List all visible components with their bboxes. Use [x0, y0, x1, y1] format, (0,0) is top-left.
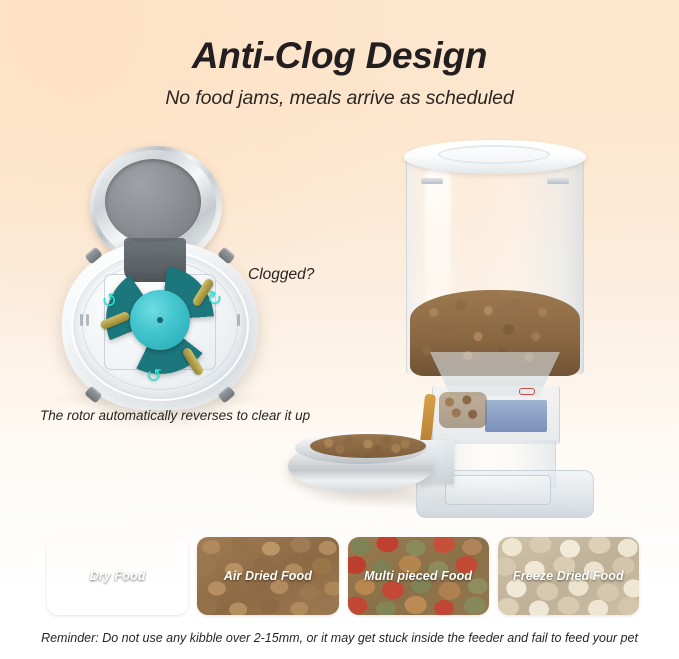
food-swatch-label: Multi pieced Food — [348, 569, 489, 583]
vent-slot — [86, 314, 89, 326]
food-swatch-label: Dry Food — [47, 569, 188, 583]
hopper-clip — [547, 178, 569, 184]
food-swatch-label: Air Dried Food — [197, 569, 338, 583]
food-swatch-freeze-dried: Freeze Dried Food — [498, 537, 639, 615]
food-swatch-dry: Dry Food — [47, 537, 188, 615]
rotor-chamber-blue-part — [485, 400, 547, 432]
clogged-label: Clogged? — [248, 266, 314, 284]
feeder-lid-ring — [438, 145, 550, 164]
infographic-page: Anti-Clog Design No food jams, meals arr… — [0, 0, 679, 659]
rotor-caption: The rotor automatically reverses to clea… — [40, 408, 310, 423]
rotor-center-pin — [157, 317, 163, 323]
base-inner-frame — [445, 475, 551, 505]
food-swatch-air-dried: Air Dried Food — [197, 537, 338, 615]
food-type-swatch-row: Dry Food Air Dried Food Multi pieced Foo… — [47, 537, 639, 615]
bowl-rim — [295, 432, 427, 464]
reverse-rotation-arrow-icon: ↺ — [146, 367, 163, 387]
chamber-kibble — [439, 392, 487, 428]
rotor-hub — [130, 290, 190, 350]
hopper-clip — [421, 178, 443, 184]
lid-inner-face — [105, 159, 201, 244]
feeding-bowl — [288, 432, 434, 494]
feeder-body-top-view: ↺ ↺ ↺ — [62, 242, 258, 410]
rotor-chamber — [432, 386, 560, 444]
page-title: Anti-Clog Design — [0, 36, 679, 77]
food-swatch-multi-pieced: Multi pieced Food — [348, 537, 489, 615]
page-subtitle: No food jams, meals arrive as scheduled — [0, 87, 679, 110]
food-swatch-label: Freeze Dried Food — [498, 569, 639, 583]
red-indicator-mark — [519, 388, 535, 395]
vent-slot — [80, 314, 83, 326]
feeder-lid — [404, 140, 586, 174]
heading-block: Anti-Clog Design No food jams, meals arr… — [0, 36, 679, 110]
bowl-kibble — [310, 434, 426, 458]
vent-slot — [237, 314, 240, 326]
reminder-text: Reminder: Do not use any kibble over 2-1… — [0, 631, 679, 645]
rotor-assembly: ↺ ↺ ↺ — [106, 266, 214, 374]
